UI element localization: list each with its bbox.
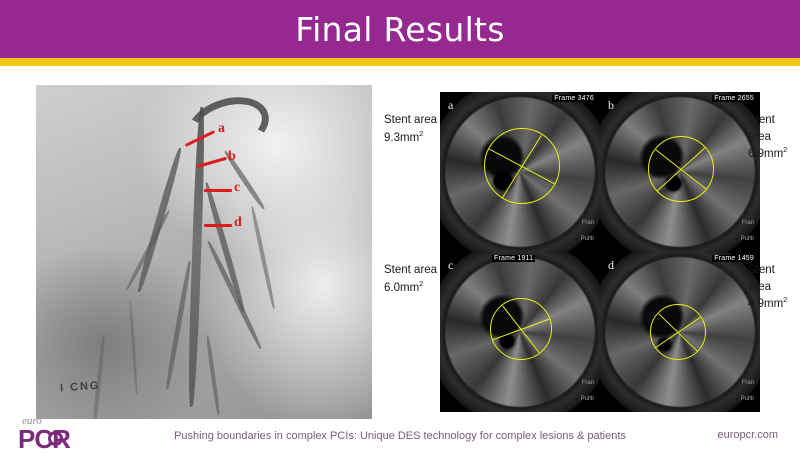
ivus-panel-b: b Frame 2655 Fran Pullb (600, 92, 760, 252)
ivus-corner-text: Fran (582, 380, 594, 386)
ivus-corner-text: Fran (742, 380, 754, 386)
vessel-branch (205, 335, 220, 415)
panel-letter-c: c (448, 258, 453, 273)
vessel-branch (250, 206, 276, 310)
stent-area-caption: Stent area (748, 262, 800, 295)
ivus-panel-a: a Frame 3476 Fran Pullb (440, 92, 600, 252)
ivus-corner-text: Pullb (741, 236, 754, 242)
footer-tagline: Pushing boundaries in complex PCIs: Uniq… (0, 430, 800, 442)
stent-area-caption: Stent area (748, 112, 800, 145)
marker-label-b: b (228, 149, 236, 165)
slide-header: Final Results (0, 0, 800, 58)
stent-area-value: 6.0mm2 (384, 279, 437, 297)
marker-tick-c (204, 189, 232, 192)
stent-area-label-c: Stent area 6.0mm2 (384, 262, 437, 296)
marker-label-d: d (234, 215, 242, 231)
vessel-branch (206, 240, 263, 350)
ivus-corner-text: Fran (582, 220, 594, 226)
ivus-panel-c: c Frame 1911 Fran Pullb (440, 252, 600, 412)
ivus-corner-text: Pullb (581, 396, 594, 402)
stent-area-value: 6.9mm2 (748, 145, 800, 163)
ivus-corner-text: Fran (742, 220, 754, 226)
stent-area-label-b: Stent area 6.9mm2 (748, 112, 800, 163)
frame-label-b: Frame 2655 (712, 95, 756, 102)
vessel-branch (125, 209, 171, 290)
vessel-branch (129, 300, 139, 395)
stent-area-caption: Stent area (384, 262, 437, 279)
page-title: Final Results (295, 10, 505, 49)
ivus-panel-grid: a Frame 3476 Fran Pullb b Frame 2655 Fra… (440, 92, 760, 412)
vessel-branch (135, 147, 183, 293)
frame-label-c: Frame 1911 (492, 255, 535, 262)
ivus-corner-text: Pullb (741, 396, 754, 402)
panel-letter-b: b (608, 98, 614, 113)
header-accent-rule (0, 58, 800, 66)
stent-area-value: 9.3mm2 (384, 129, 437, 147)
vessel-main-trunk (187, 107, 206, 407)
frame-label-a: Frame 3476 (552, 95, 596, 102)
panel-letter-d: d (608, 258, 614, 273)
stent-area-value: 4.9mm2 (748, 295, 800, 313)
panel-letter-a: a (448, 98, 453, 113)
ivus-panel-d: d Frame 1459 Fran Pullb (600, 252, 760, 412)
marker-tick-d (204, 224, 232, 227)
marker-label-c: c (234, 180, 240, 196)
stent-area-label-a: Stent area 9.3mm2 (384, 112, 437, 146)
footer-url[interactable]: europcr.com (717, 429, 778, 441)
frame-label-d: Frame 1459 (712, 255, 756, 262)
vessel-branch (90, 335, 105, 419)
angiogram-image: a b c d I CNG (36, 85, 372, 419)
stent-area-caption: Stent area (384, 112, 437, 129)
ivus-corner-text: Pullb (581, 236, 594, 242)
stent-area-label-d: Stent area 4.9mm2 (748, 262, 800, 313)
marker-label-a: a (218, 121, 225, 137)
